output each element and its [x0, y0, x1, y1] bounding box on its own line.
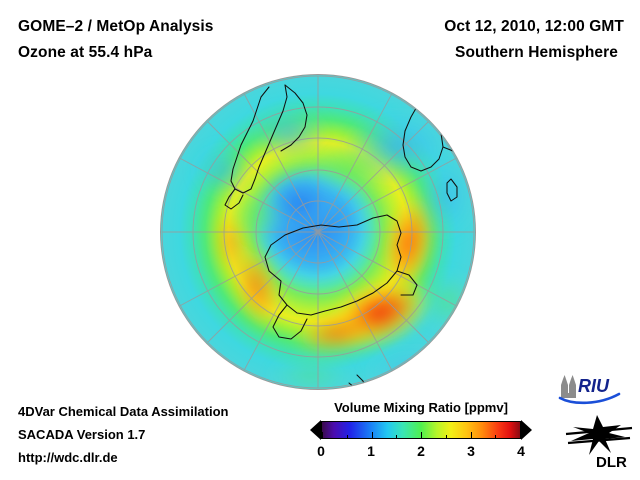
colorbar-tick-label: 4: [517, 443, 525, 459]
map-panel: [161, 75, 475, 389]
colorbar-tick-label: 0: [317, 443, 325, 459]
colorbar-major-tick: [372, 432, 373, 438]
coastline-layer: [161, 75, 475, 389]
colorbar-extend-high-arrow: [521, 420, 532, 440]
colorbar-minor-tick: [446, 435, 447, 438]
page-title: GOME–2 / MetOp Analysis: [18, 14, 348, 40]
header-left: GOME–2 / MetOp Analysis Ozone at 55.4 hP…: [18, 14, 348, 66]
colorbar-major-tick: [471, 432, 472, 438]
footer-left: 4DVar Chemical Data Assimilation SACADA …: [18, 400, 298, 469]
colorbar-major-tick: [421, 432, 422, 438]
colorbar: Volume Mixing Ratio [ppmv] 01234: [310, 400, 532, 463]
page-subtitle: Ozone at 55.4 hPa: [18, 40, 348, 66]
colorbar-major-tick: [322, 432, 323, 438]
colorbar-tick-label: 2: [417, 443, 425, 459]
version-label: SACADA Version 1.7: [18, 423, 298, 446]
colorbar-minor-tick: [347, 435, 348, 438]
colorbar-row: [310, 420, 532, 440]
colorbar-title: Volume Mixing Ratio [ppmv]: [310, 400, 532, 415]
colorbar-tick-labels: 01234: [321, 443, 521, 463]
colorbar-extend-low-arrow: [310, 420, 321, 440]
website-url[interactable]: http://wdc.dlr.de: [18, 446, 298, 469]
cathedral-towers-icon: [561, 375, 576, 398]
header-right: Oct 12, 2010, 12:00 GMT Southern Hemisph…: [344, 14, 624, 66]
method-label: 4DVar Chemical Data Assimilation: [18, 400, 298, 423]
colorbar-tick-label: 3: [467, 443, 475, 459]
colorbar-tick-label: 1: [367, 443, 375, 459]
riu-wordmark: RIU: [578, 376, 610, 396]
colorbar-minor-tick: [396, 435, 397, 438]
colorbar-bar: [321, 421, 521, 439]
region-label: Southern Hemisphere: [344, 40, 624, 66]
polar-stereographic-globe: [161, 75, 475, 389]
colorbar-minor-tick: [495, 435, 496, 438]
dlr-wordmark: DLR: [596, 454, 627, 471]
dlr-mark-icon: [566, 415, 632, 455]
riu-logo: RIU: [557, 372, 633, 406]
timestamp-label: Oct 12, 2010, 12:00 GMT: [344, 14, 624, 40]
dlr-logo: DLR: [563, 413, 635, 471]
colorbar-major-tick: [520, 432, 521, 438]
colorbar-ticks: [322, 422, 520, 438]
